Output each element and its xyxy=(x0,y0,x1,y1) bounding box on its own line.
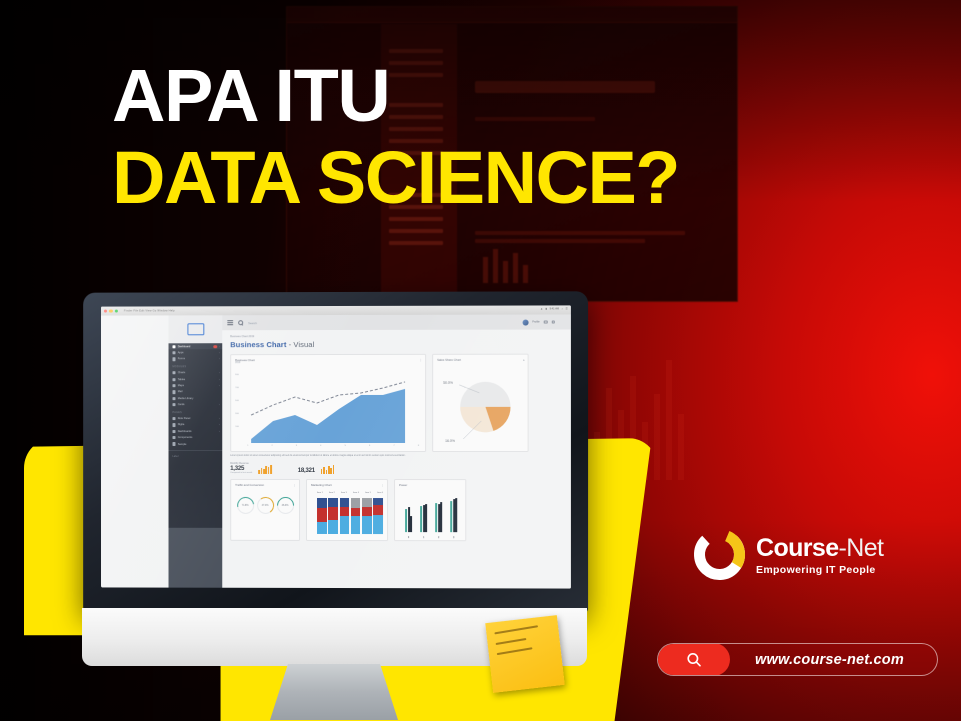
sticky-note[interactable] xyxy=(485,615,564,693)
bar-group xyxy=(420,495,428,533)
zoom-icon[interactable] xyxy=(115,309,118,312)
brand-logo-text: Course-Net Empowering IT People xyxy=(756,534,883,576)
lock-icon xyxy=(172,436,175,439)
search-icon[interactable]: ⌕ xyxy=(562,307,563,310)
sidebar-item-label: Charts xyxy=(178,372,186,375)
kpi-1: Monthly Revenue 1,325 Compared to last m… xyxy=(230,462,272,474)
hamburger-icon[interactable] xyxy=(227,319,233,326)
area-series xyxy=(251,389,405,443)
pie-annotation-1: 50.0% xyxy=(443,381,453,385)
area-line-plot xyxy=(231,355,427,453)
search-icon[interactable] xyxy=(657,643,730,676)
chevron-right-icon: › xyxy=(219,371,220,374)
pin-icon xyxy=(172,384,175,387)
chevron-right-icon: › xyxy=(219,384,220,387)
stacked-legend: Item 1 Item 2 Item 3 Item 4 Item 5 Item … xyxy=(317,492,383,494)
avatar[interactable] xyxy=(522,319,528,325)
cards-row-1: Business Chart 2019 ⋮ 900 700 500 300 10… xyxy=(230,354,563,452)
sidebar-blank-panel xyxy=(169,528,223,588)
gauge-value: 46.3% xyxy=(277,497,294,514)
more-icon[interactable]: ⋮ xyxy=(293,483,296,487)
kpi-value: 18,321 xyxy=(298,468,315,474)
more-icon[interactable]: ⋮ xyxy=(381,483,384,487)
poster-canvas: Finder File Edit View Go Window Help ▲ ▮… xyxy=(0,0,961,721)
sidebar-item-label: Maps xyxy=(178,384,184,387)
sidebar-item-sample[interactable]: Sample xyxy=(169,441,223,447)
monitor-screen: Finder File Edit View Go Window Help ▲ ▮… xyxy=(101,305,571,588)
cards-row-2: Traffic and Conversion ⋮ 71.8% xyxy=(230,479,563,541)
sidebar-group-modules: Modules xyxy=(169,362,223,370)
sidebar-item-label: Components xyxy=(178,436,193,439)
page-title: Business Chart - Visual xyxy=(230,340,563,350)
star-icon xyxy=(172,430,175,433)
monitor-bezel: Finder File Edit View Go Window Help ▲ ▮… xyxy=(83,291,588,612)
sidebar-item-forms[interactable]: Forms › xyxy=(169,356,223,362)
os-status-icons[interactable]: ▲ ▮ 9:41 AM ⌕ ☰ xyxy=(540,307,568,310)
os-menubar[interactable]: Finder File Edit View Go Window Help xyxy=(124,309,175,312)
stacked-card[interactable]: Marketing Chart ⋮ Item 1 Item 2 Item 3 I… xyxy=(306,479,388,541)
sticky-note-line xyxy=(494,625,537,634)
stacked-bar xyxy=(328,498,338,534)
brand-tagline: Empowering IT People xyxy=(756,564,883,576)
bars-card[interactable]: Power 0 1 2 xyxy=(394,479,466,541)
grid-icon xyxy=(172,351,175,354)
sidebar-item-label: Apps xyxy=(178,351,184,354)
sticky-note-line xyxy=(497,647,533,654)
pie-plot: 50.0% 16.0% xyxy=(433,355,529,453)
battery-icon: ▮ xyxy=(545,307,546,310)
kpi-sparkline xyxy=(258,465,272,474)
chevron-right-icon: › xyxy=(219,423,220,426)
dashboard-app: Finder File Edit View Go Window Help ▲ ▮… xyxy=(101,305,571,588)
title-line-2: DATA SCIENCE? xyxy=(112,144,679,212)
gear-icon xyxy=(172,423,175,426)
kpi-sublabel: Compared to last month xyxy=(230,472,252,474)
bar-group xyxy=(435,495,443,533)
sidebar-footer-label: Label xyxy=(169,450,223,460)
bar-group xyxy=(405,494,413,532)
sidebar-item-label: Dashboards xyxy=(178,430,192,433)
sidebar-item-label: Mail xyxy=(178,391,183,394)
chevron-right-icon: › xyxy=(219,403,220,406)
sidebar-item-cards[interactable]: Cards › xyxy=(169,402,223,408)
page-title-rest: - Visual xyxy=(286,340,314,349)
card-title: Marketing Chart xyxy=(307,480,387,487)
stacked-bars xyxy=(317,498,383,534)
chart-icon xyxy=(172,371,175,374)
search-input[interactable]: Search xyxy=(248,321,257,325)
card-title: Traffic and Conversion xyxy=(231,480,299,487)
search-icon[interactable] xyxy=(238,320,243,325)
x-axis-ticks: 1 2 3 4 5 6 7 8 xyxy=(247,445,419,447)
gauge-sales: 46.3% xyxy=(277,497,294,514)
stacked-bar xyxy=(351,498,361,534)
bell-icon[interactable] xyxy=(544,320,548,324)
brand-name: Course-Net xyxy=(756,536,883,561)
chevron-right-icon: › xyxy=(219,345,220,348)
sticky-note-line xyxy=(496,638,527,645)
pie-card[interactable]: Sales Share Chart ▴ 50.0% 16.0% xyxy=(432,354,528,452)
sidebar-item-label: Tables xyxy=(178,378,185,381)
stacked-bar xyxy=(362,498,372,534)
brand-name-light: -Net xyxy=(839,534,884,562)
gauge-leads: 47.4% xyxy=(257,497,274,514)
dashboard-sidebar: Dashboard › Apps › Forms › xyxy=(169,315,223,587)
poster-title: APA ITU DATA SCIENCE? xyxy=(112,62,679,212)
sidebar-item-label: Forms xyxy=(178,358,185,361)
sidebar-item-label: Sample xyxy=(178,443,187,446)
gauge-value: 47.4% xyxy=(257,497,274,514)
gauge-icon xyxy=(172,345,175,348)
topbar-actions: Profile xyxy=(522,319,555,325)
monitor-icon xyxy=(187,323,204,335)
grouped-bars xyxy=(401,494,461,532)
shield-icon xyxy=(172,417,175,420)
stacked-bar xyxy=(340,498,350,534)
grid-icon[interactable] xyxy=(551,320,555,324)
chevron-right-icon: › xyxy=(219,351,220,354)
pie-annotation-2: 16.0% xyxy=(445,439,455,443)
close-icon[interactable] xyxy=(104,309,107,312)
kpi-sparkline xyxy=(321,465,335,474)
x-axis-ticks: 0 1 2 3 xyxy=(401,538,461,540)
mail-icon xyxy=(172,391,175,394)
sidebar-item-label: Digital xyxy=(178,424,185,427)
stacked-bar xyxy=(373,498,383,534)
sidebar-item-label: Media Library xyxy=(178,397,194,400)
monitor-stand xyxy=(270,664,398,720)
line-area-card[interactable]: Business Chart 2019 ⋮ 900 700 500 300 10… xyxy=(230,354,426,452)
image-icon xyxy=(172,397,175,400)
sidebar-item-label: Role Panel xyxy=(178,417,191,420)
menu-icon[interactable]: ☰ xyxy=(566,307,568,310)
website-url-bar[interactable]: www.course-net.com xyxy=(657,643,938,676)
user-label[interactable]: Profile xyxy=(532,321,539,324)
user-icon xyxy=(172,358,175,361)
chevron-right-icon: › xyxy=(219,378,220,381)
bar-group xyxy=(450,495,458,533)
sidebar-group-pages: Pages xyxy=(169,408,223,416)
tag-icon xyxy=(172,442,175,445)
card-icon xyxy=(172,403,175,406)
sidebar-item-label: Cards xyxy=(178,403,185,406)
sidebar-badge xyxy=(213,345,217,348)
table-icon xyxy=(172,378,175,381)
wifi-icon: ▲ xyxy=(540,307,543,310)
minimize-icon[interactable] xyxy=(109,309,112,312)
dashboard-topbar: Search Profile xyxy=(222,314,571,330)
chevron-right-icon: › xyxy=(219,358,220,361)
chevron-right-icon: › xyxy=(219,430,220,433)
gauge-group: 71.8% 47.4% xyxy=(231,497,299,514)
chevron-right-icon: › xyxy=(219,417,220,420)
website-url[interactable]: www.course-net.com xyxy=(730,652,937,668)
page-title-strong: Business Chart xyxy=(230,340,286,349)
chart-note: Lorem ipsum dolor sit amet consectetur a… xyxy=(230,455,563,458)
stacked-bar xyxy=(317,498,327,534)
brand-name-bold: Course xyxy=(756,534,839,562)
breadcrumb: Business Chart 2019 xyxy=(230,335,563,339)
dashboard-content: Business Chart 2019 Business Chart - Vis… xyxy=(222,329,571,588)
gauge-visits: 71.8% xyxy=(237,497,254,514)
kpi-row: Monthly Revenue 1,325 Compared to last m… xyxy=(230,462,563,474)
kpi-2: 18,321 xyxy=(298,465,335,474)
sidebar-item-label: Dashboard xyxy=(178,345,191,348)
sidebar-logo[interactable] xyxy=(169,315,223,343)
title-line-1: APA ITU xyxy=(112,62,679,130)
brand-logo[interactable]: Course-Net Empowering IT People xyxy=(692,527,883,582)
gauge-value: 71.8% xyxy=(237,497,254,514)
gauge-card[interactable]: Traffic and Conversion ⋮ 71.8% xyxy=(230,479,300,541)
donut-ring-icon xyxy=(692,527,747,582)
card-title: Power xyxy=(395,480,465,487)
clock-label: 9:41 AM xyxy=(549,307,559,310)
